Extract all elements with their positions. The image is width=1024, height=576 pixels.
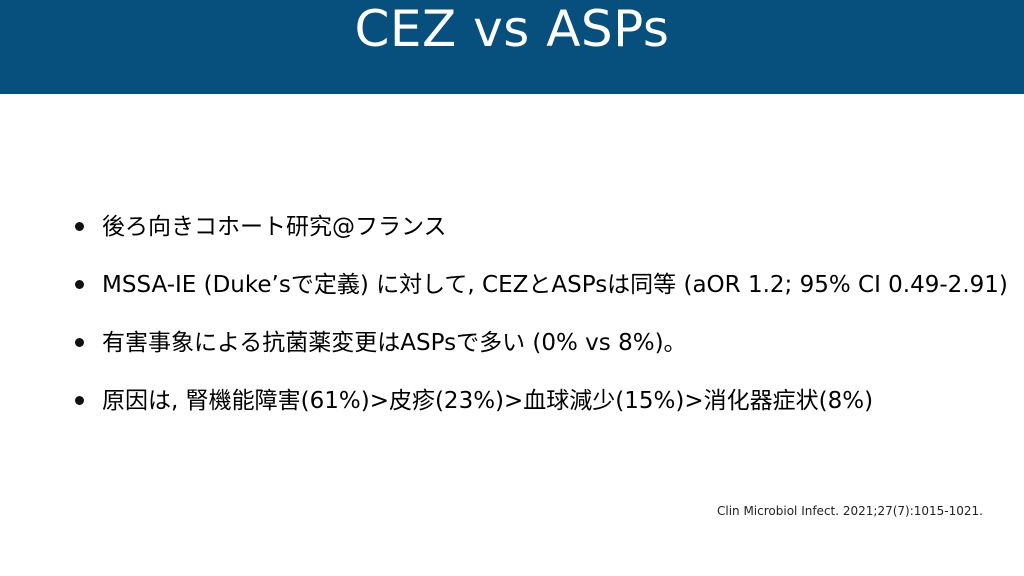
bullet-item-4: 原因は, 腎機能障害(61%)>皮疹(23%)>血球減少(15%)>消化器症状(… [70,384,990,418]
bullet-item-2-label: MSSA-IE (Duke’sで定義) に対して, CEZとASPsは同等 (a… [102,268,1008,302]
bullet-dot-icon [75,222,84,231]
bullet-item-3-label: 有害事象による抗菌薬変更はASPsで多い (0% vs 8%)。 [102,326,687,360]
bullet-dot-icon [75,280,84,289]
bullet-dot-icon [75,396,84,405]
bullet-dot-icon [75,338,84,347]
bullet-item-2: MSSA-IE (Duke’sで定義) に対して, CEZとASPsは同等 (a… [70,268,990,302]
bullet-item-3: 有害事象による抗菌薬変更はASPsで多い (0% vs 8%)。 [70,326,990,360]
presentation-slide: CEZ vs ASPs 後ろ向きコホート研究@フランス MSSA-IE (Duk… [0,0,1024,576]
bullet-item-1-label: 後ろ向きコホート研究@フランス [102,210,447,244]
bullet-item-1: 後ろ向きコホート研究@フランス [70,210,990,244]
source-citation: Clin Microbiol Infect. 2021;27(7):1015-1… [717,503,983,519]
bullet-list: 後ろ向きコホート研究@フランス MSSA-IE (Duke’sで定義) に対して… [70,210,990,418]
slide-title: CEZ vs ASPs [355,4,670,54]
slide-title-banner: CEZ vs ASPs [0,0,1024,94]
bullet-item-4-label: 原因は, 腎機能障害(61%)>皮疹(23%)>血球減少(15%)>消化器症状(… [102,384,873,418]
